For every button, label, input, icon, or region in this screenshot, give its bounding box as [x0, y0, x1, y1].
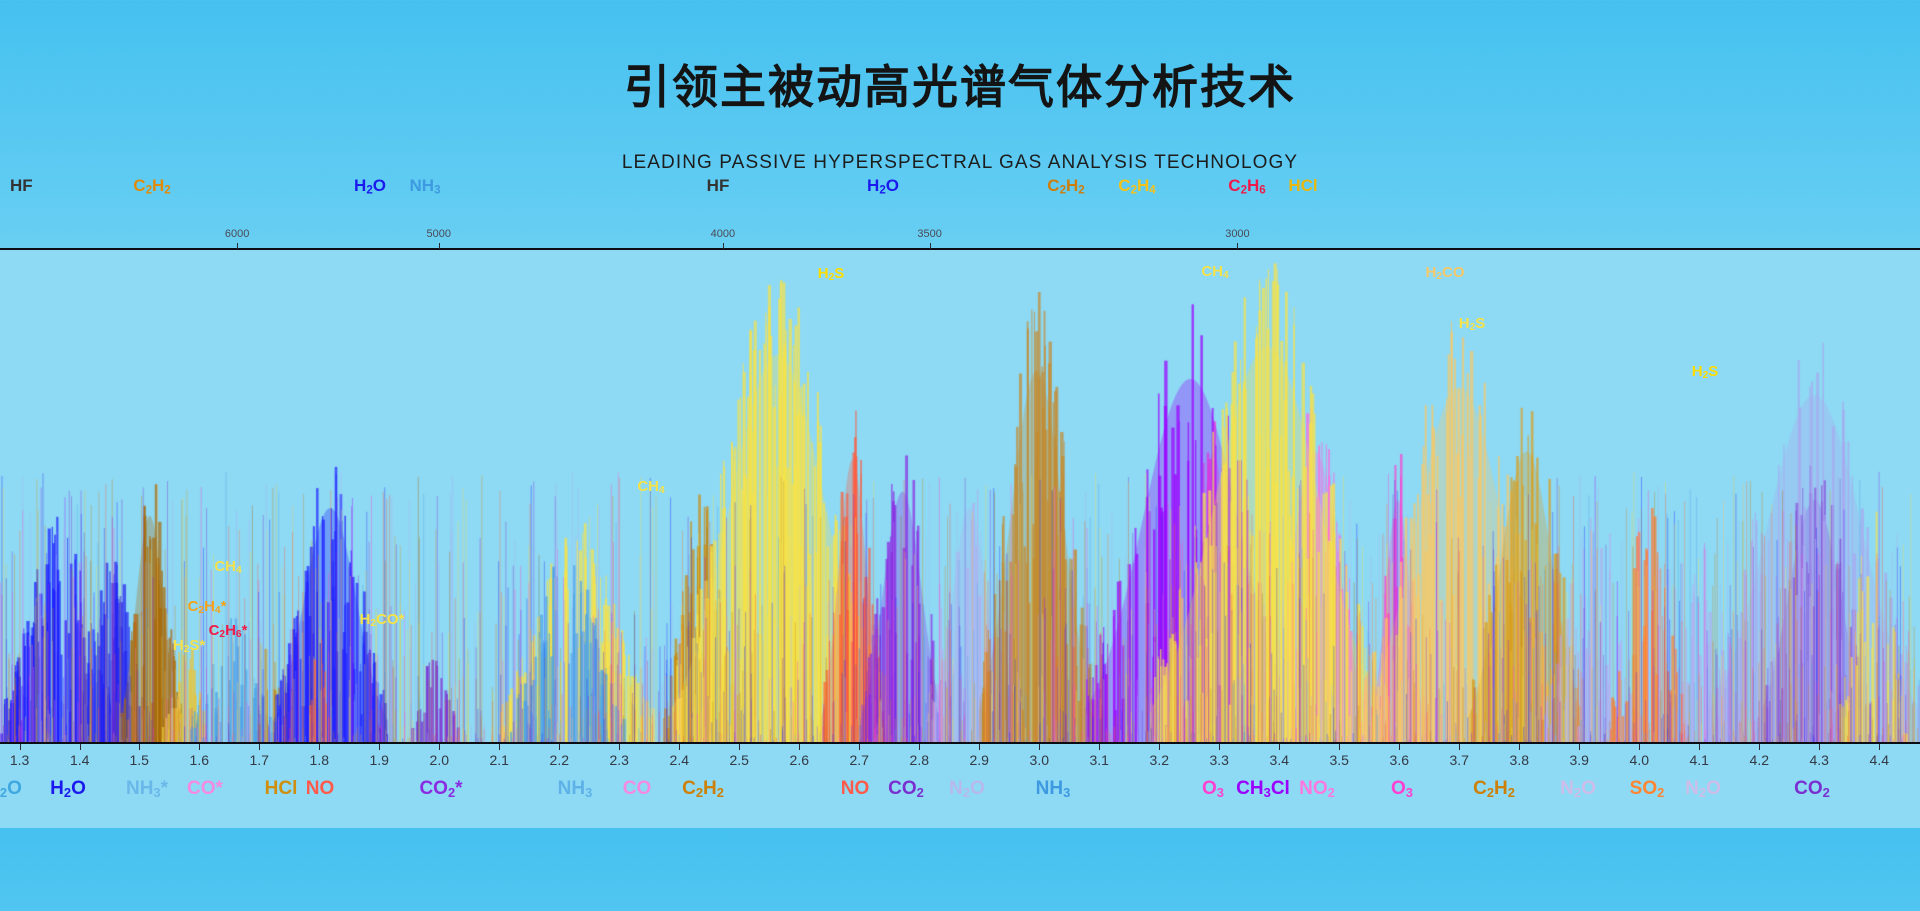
tick-label: 1.7	[249, 752, 268, 768]
tick-mark	[237, 243, 238, 249]
tick-mark	[619, 744, 620, 750]
species-label-bottom: C2H2	[682, 778, 724, 800]
species-label-inplot: CH4	[637, 478, 664, 496]
species-label-inplot: CH4	[214, 558, 241, 576]
species-label-inplot: H2CO	[1425, 264, 1464, 282]
tick-mark	[199, 744, 200, 750]
tick-mark	[1699, 744, 1700, 750]
tick-mark	[1399, 744, 1400, 750]
tick-label: 2.5	[729, 752, 748, 768]
tick-label: 3.3	[1209, 752, 1228, 768]
tick-label: 6000	[225, 228, 249, 240]
tick-label: 2.7	[849, 752, 868, 768]
tick-mark	[1219, 744, 1220, 750]
axis-line-bottom	[0, 742, 1920, 744]
species-label-bottom: H2O	[0, 778, 22, 800]
tick-mark	[439, 744, 440, 750]
species-label-bottom: H2O	[50, 778, 86, 800]
tick-label: 1.5	[129, 752, 148, 768]
species-label-top: H2O	[867, 176, 899, 197]
species-label-inplot: H2S	[1692, 363, 1719, 381]
tick-mark	[723, 243, 724, 249]
tick-mark	[919, 744, 920, 750]
tick-label: 3.7	[1449, 752, 1468, 768]
species-label-bottom: CO	[623, 778, 652, 800]
species-label-top: H2O	[354, 176, 386, 197]
tick-label: 3.5	[1329, 752, 1348, 768]
species-label-bottom: CO2	[888, 778, 924, 800]
tick-label: 1.6	[190, 752, 209, 768]
tick-label: 3.8	[1510, 752, 1529, 768]
tick-label: 2.4	[670, 752, 689, 768]
species-label-inplot: H2S	[1459, 315, 1486, 333]
tick-mark	[1759, 744, 1760, 750]
plot-area	[0, 250, 1920, 742]
tick-mark	[679, 744, 680, 750]
spectrum-canvas	[0, 250, 1920, 742]
tick-mark	[20, 744, 21, 750]
species-label-inplot: C2H4*	[188, 598, 227, 616]
tick-mark	[1339, 744, 1340, 750]
tick-label: 4.3	[1809, 752, 1828, 768]
tick-label: 2.3	[609, 752, 628, 768]
tick-mark	[439, 243, 440, 249]
tick-mark	[859, 744, 860, 750]
species-label-bottom: O3	[1202, 778, 1224, 800]
axis-line-top	[0, 248, 1920, 250]
species-label-bottom: N2O	[1685, 778, 1721, 800]
tick-label: 3.4	[1270, 752, 1289, 768]
tick-label: 4.4	[1870, 752, 1889, 768]
tick-mark	[1279, 744, 1280, 750]
species-label-top: C2H2	[133, 176, 170, 197]
tick-mark	[559, 744, 560, 750]
page-title: 引领主被动高光谱气体分析技术	[0, 62, 1920, 113]
tick-mark	[1159, 744, 1160, 750]
tick-label: 1.3	[10, 752, 29, 768]
tick-label: 4.2	[1750, 752, 1769, 768]
tick-mark	[1099, 744, 1100, 750]
species-label-bottom: CO2*	[419, 778, 462, 800]
tick-mark	[1519, 744, 1520, 750]
tick-mark	[499, 744, 500, 750]
tick-label: 1.8	[310, 752, 329, 768]
species-label-inplot: H2S	[818, 265, 845, 283]
species-label-bottom: CH3Cl	[1236, 778, 1290, 800]
tick-mark	[979, 744, 980, 750]
species-label-bottom: NO2	[1299, 778, 1335, 800]
page-subtitle: LEADING PASSIVE HYPERSPECTRAL GAS ANALYS…	[0, 152, 1920, 174]
species-label-bottom: NH3*	[126, 778, 168, 800]
tick-label: 3.2	[1150, 752, 1169, 768]
tick-mark	[930, 243, 931, 249]
tick-mark	[739, 744, 740, 750]
tick-label: 4000	[711, 228, 735, 240]
species-label-top: NH3	[410, 176, 441, 197]
tick-mark	[1237, 243, 1238, 249]
tick-label: 1.4	[70, 752, 89, 768]
tick-mark	[799, 744, 800, 750]
species-label-top: C2H4	[1118, 176, 1155, 197]
species-label-bottom: NO	[306, 778, 335, 800]
tick-mark	[1039, 744, 1040, 750]
spectrum-chart: 60005000400035003000 1.31.41.51.61.71.81…	[0, 248, 1920, 911]
tick-label: 2.2	[550, 752, 569, 768]
species-label-bottom: N2O	[1560, 778, 1596, 800]
tick-label: 1.9	[369, 752, 388, 768]
tick-label: 2.9	[969, 752, 988, 768]
species-label-bottom: NO	[841, 778, 870, 800]
species-label-bottom: O3	[1391, 778, 1413, 800]
tick-mark	[1579, 744, 1580, 750]
tick-mark	[139, 744, 140, 750]
tick-label: 3.1	[1089, 752, 1108, 768]
tick-mark	[379, 744, 380, 750]
tick-label: 3.9	[1569, 752, 1588, 768]
tick-label: 5000	[426, 228, 450, 240]
tick-label: 3500	[917, 228, 941, 240]
species-label-inplot: H2S*	[173, 637, 205, 655]
species-label-bottom: CO*	[187, 778, 223, 800]
tick-label: 2.1	[489, 752, 508, 768]
species-label-inplot: H2CO*	[360, 611, 405, 629]
tick-mark	[319, 744, 320, 750]
tick-label: 2.8	[910, 752, 929, 768]
tick-mark	[80, 744, 81, 750]
species-label-top: C2H6	[1228, 176, 1265, 197]
species-label-bottom: HCl	[265, 778, 298, 800]
infographic-root: 引领主被动高光谱气体分析技术 LEADING PASSIVE HYPERSPEC…	[0, 0, 1920, 828]
tick-mark	[259, 744, 260, 750]
species-label-top: HF	[10, 176, 33, 196]
tick-mark	[1879, 744, 1880, 750]
species-label-bottom: C2H2	[1473, 778, 1515, 800]
header: 引领主被动高光谱气体分析技术 LEADING PASSIVE HYPERSPEC…	[0, 0, 1920, 248]
species-label-bottom: SO2	[1630, 778, 1665, 800]
species-label-inplot: C2H6*	[209, 622, 248, 640]
tick-label: 3000	[1225, 228, 1249, 240]
tick-mark	[1819, 744, 1820, 750]
species-label-inplot: CH4	[1201, 263, 1228, 281]
tick-label: 3.6	[1390, 752, 1409, 768]
species-label-bottom: NH3	[1036, 778, 1071, 800]
species-label-top: C2H2	[1047, 176, 1084, 197]
species-label-top: HCl	[1288, 176, 1317, 196]
tick-label: 4.0	[1630, 752, 1649, 768]
tick-label: 4.1	[1689, 752, 1708, 768]
species-label-top: HF	[707, 176, 730, 196]
tick-label: 3.0	[1030, 752, 1049, 768]
tick-label: 2.0	[430, 752, 449, 768]
species-label-bottom: NH3	[558, 778, 593, 800]
tick-mark	[1639, 744, 1640, 750]
tick-mark	[1459, 744, 1460, 750]
species-label-bottom: N2O	[949, 778, 985, 800]
species-label-bottom: CO2	[1794, 778, 1830, 800]
tick-label: 2.6	[790, 752, 809, 768]
